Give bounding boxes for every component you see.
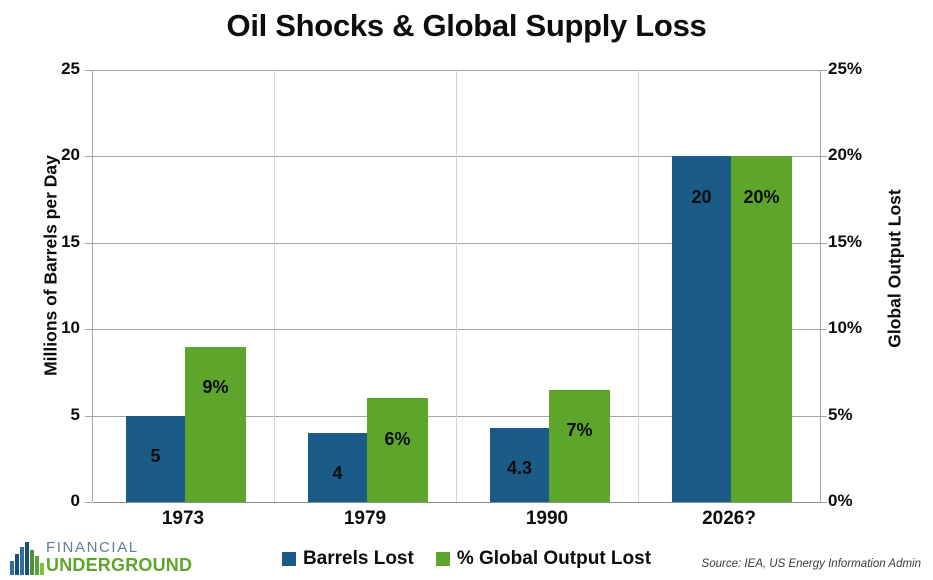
brand-logo[interactable]: FINANCIAL UNDERGROUND bbox=[10, 537, 200, 577]
bar-label-barrels-1973: 5 bbox=[125, 446, 186, 467]
source-note: Source: IEA, US Energy Information Admin bbox=[702, 558, 921, 570]
category-separator bbox=[638, 70, 639, 502]
y-axis-right-tickmark bbox=[820, 329, 827, 330]
y-axis-left-tick-10: 10 bbox=[4, 318, 80, 338]
legend-swatch-green-icon bbox=[436, 552, 450, 566]
bar-output-1973[interactable] bbox=[185, 347, 246, 503]
bar-label-output-1990: 7% bbox=[549, 420, 610, 441]
y-axis-right-tick-10: 10% bbox=[828, 318, 862, 338]
x-axis-label-2026: 2026? bbox=[638, 508, 820, 530]
x-axis-label-1979: 1979 bbox=[274, 508, 456, 530]
y-axis-right-tick-25: 25% bbox=[828, 59, 862, 79]
bar-output-1979[interactable] bbox=[367, 398, 428, 502]
category-separator bbox=[274, 70, 275, 502]
legend-swatch-blue-icon bbox=[282, 552, 296, 566]
bar-label-barrels-1979: 4 bbox=[307, 463, 368, 484]
skyline-logo-icon bbox=[10, 539, 44, 575]
logo-word-underground: UNDERGROUND bbox=[46, 556, 192, 574]
y-axis-right-tickmark bbox=[820, 416, 827, 417]
y-axis-left-tickmark bbox=[85, 416, 92, 417]
y-axis-right-title: Global Output Lost bbox=[885, 74, 906, 464]
plot-area: 5 9% 4 6% 4.3 7% 20 20% bbox=[92, 70, 821, 502]
bar-label-barrels-2026: 20 bbox=[671, 187, 732, 208]
bar-barrels-2026[interactable] bbox=[672, 156, 731, 502]
legend-item-global-output-lost[interactable]: % Global Output Lost bbox=[436, 549, 651, 568]
y-axis-left-tick-0: 0 bbox=[4, 491, 80, 511]
y-axis-right-tick-20: 20% bbox=[828, 145, 862, 165]
bar-label-output-1973: 9% bbox=[185, 377, 246, 398]
legend-label-global-output-lost: % Global Output Lost bbox=[457, 549, 651, 568]
y-axis-left-tickmark bbox=[85, 70, 92, 71]
y-axis-left-tick-25: 25 bbox=[4, 59, 80, 79]
y-axis-right-tick-5: 5% bbox=[828, 405, 853, 425]
x-axis-label-1990: 1990 bbox=[456, 508, 638, 530]
x-axis-label-1973: 1973 bbox=[92, 508, 274, 530]
y-axis-left-tickmark bbox=[85, 329, 92, 330]
y-axis-right-tick-0: 0% bbox=[828, 491, 853, 511]
logo-word-financial: FINANCIAL bbox=[46, 540, 192, 555]
legend-item-barrels-lost[interactable]: Barrels Lost bbox=[282, 549, 414, 568]
y-axis-right-tick-15: 15% bbox=[828, 232, 862, 252]
y-axis-left-tickmark bbox=[85, 156, 92, 157]
y-axis-left-tick-20: 20 bbox=[4, 145, 80, 165]
y-axis-right-tickmark bbox=[820, 70, 827, 71]
chart-title: Oil Shocks & Global Supply Loss bbox=[0, 8, 933, 44]
y-axis-left-tick-5: 5 bbox=[4, 405, 80, 425]
y-axis-left-tickmark bbox=[85, 243, 92, 244]
y-axis-right-tickmark bbox=[820, 502, 827, 503]
bar-label-output-2026: 20% bbox=[731, 187, 792, 208]
y-axis-right-tickmark bbox=[820, 156, 827, 157]
y-axis-left-tickmark bbox=[85, 502, 92, 503]
bar-output-1990[interactable] bbox=[549, 390, 610, 502]
bar-label-output-1979: 6% bbox=[367, 429, 428, 450]
bar-output-2026[interactable] bbox=[731, 156, 792, 502]
y-axis-left-tick-15: 15 bbox=[4, 232, 80, 252]
category-separator bbox=[456, 70, 457, 502]
bar-label-barrels-1990: 4.3 bbox=[489, 458, 550, 479]
y-axis-left-title: Millions of Barrels per Day bbox=[41, 71, 62, 461]
logo-text: FINANCIAL UNDERGROUND bbox=[46, 540, 192, 574]
legend-label-barrels-lost: Barrels Lost bbox=[303, 549, 414, 568]
gridline-0 bbox=[93, 502, 820, 503]
y-axis-right-tickmark bbox=[820, 243, 827, 244]
